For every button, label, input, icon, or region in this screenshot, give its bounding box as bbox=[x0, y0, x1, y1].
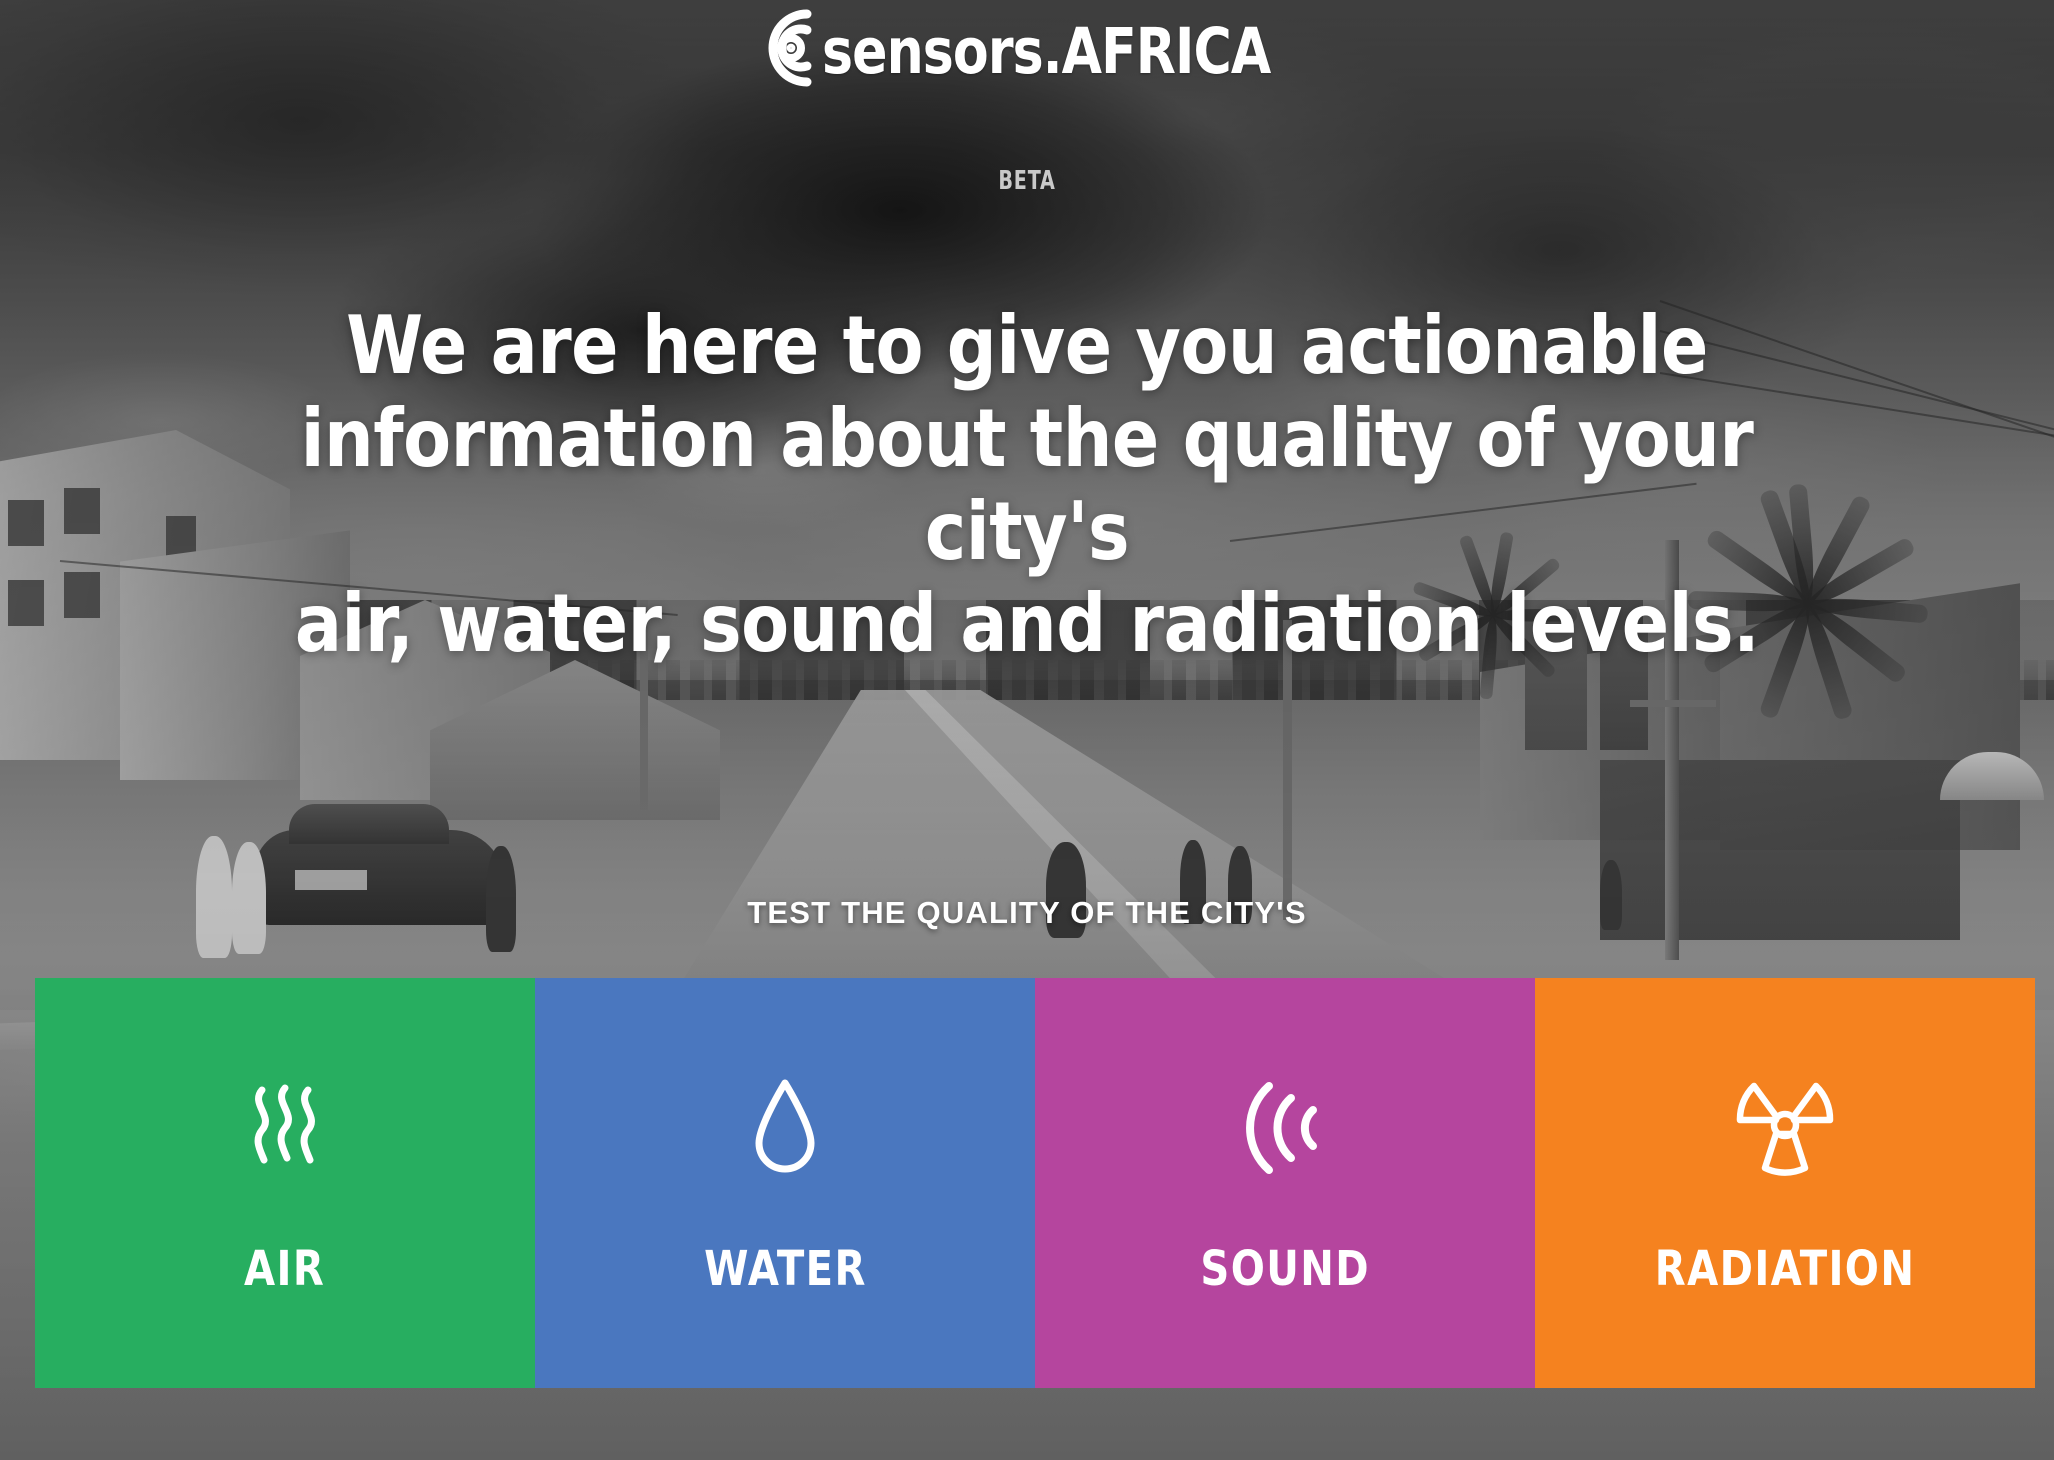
hero-subtitle: TEST THE QUALITY OF THE CITY'S bbox=[0, 895, 2054, 931]
tile-sound-label: SOUND bbox=[1200, 1241, 1370, 1297]
tile-water-label: WATER bbox=[704, 1241, 867, 1297]
category-tile-row: AIR WATER bbox=[35, 978, 2035, 1388]
site-logo-text: sensors.AFRICA bbox=[822, 20, 1270, 83]
site-logo[interactable]: sensors.AFRICA bbox=[0, 2, 2054, 100]
hero-headline: We are here to give you actionable infor… bbox=[247, 300, 1807, 671]
headline-line-3: air, water, sound and radiation levels. bbox=[270, 578, 1783, 671]
concentric-sensor-spiral-icon bbox=[744, 0, 830, 100]
hero-content: sensors.AFRICA BETA We are here to give … bbox=[0, 0, 2054, 1460]
tile-radiation-label: RADIATION bbox=[1655, 1241, 1916, 1297]
tile-radiation[interactable]: RADIATION bbox=[1535, 978, 2035, 1388]
headline-line-2: information about the quality of your ci… bbox=[270, 393, 1783, 579]
sound-waves-icon bbox=[1239, 1069, 1331, 1187]
tile-air-label: AIR bbox=[244, 1241, 325, 1297]
tile-sound[interactable]: SOUND bbox=[1035, 978, 1535, 1388]
tile-air[interactable]: AIR bbox=[35, 978, 535, 1388]
hero-landing-page: sensors.AFRICA BETA We are here to give … bbox=[0, 0, 2054, 1460]
heat-waves-icon bbox=[242, 1069, 328, 1187]
tile-water[interactable]: WATER bbox=[535, 978, 1035, 1388]
water-droplet-icon bbox=[747, 1069, 823, 1187]
headline-line-1: We are here to give you actionable bbox=[270, 300, 1783, 393]
radiation-trefoil-icon bbox=[1729, 1069, 1841, 1187]
beta-badge: BETA bbox=[185, 166, 1869, 196]
